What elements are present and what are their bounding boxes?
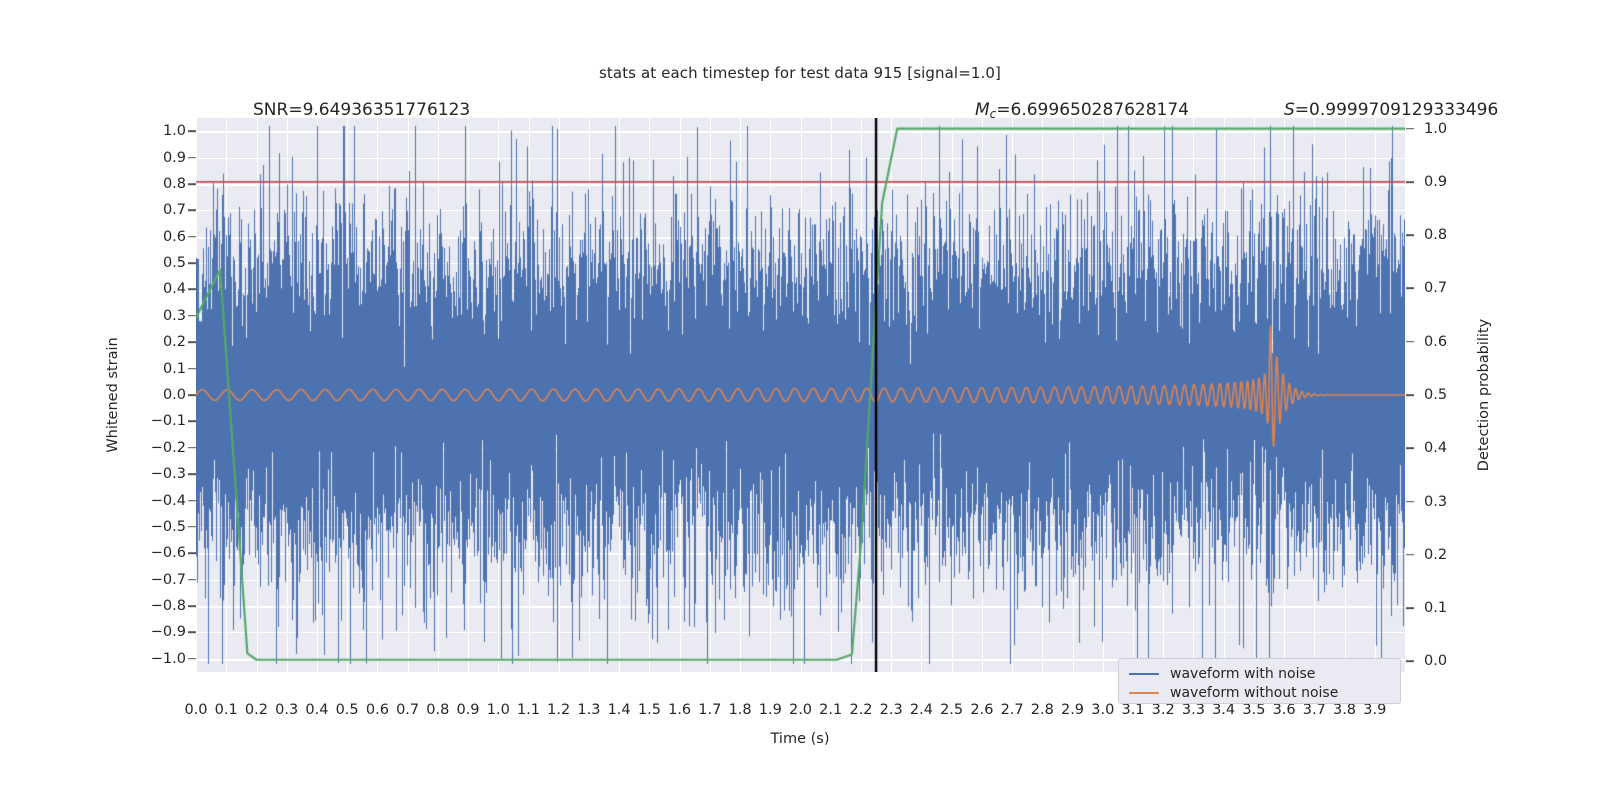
y-tick-mark-left [188, 368, 196, 370]
y-tick-label-right: 0.4 [1424, 440, 1447, 456]
y-tick-label-left: −0.9 [151, 624, 186, 640]
y-tick-mark-left [188, 658, 196, 660]
y-tick-label-left: −0.7 [151, 572, 186, 588]
y-tick-label-left: 0.0 [163, 387, 186, 403]
y-tick-mark-left [188, 157, 196, 159]
x-tick-label: 2.9 [1061, 702, 1084, 718]
x-tick-label: 2.8 [1031, 702, 1054, 718]
y-tick-mark-left [188, 605, 196, 607]
y-tick-label-right: 0.6 [1424, 334, 1447, 350]
y-tick-label-right: 0.0 [1424, 653, 1447, 669]
chirp-mass-annotation: Mc=6.699650287628174 [975, 100, 1189, 121]
y-tick-label-left: 0.3 [163, 308, 186, 324]
y-tick-mark-left [188, 236, 196, 238]
chart-title: stats at each timestep for test data 915… [0, 64, 1600, 82]
y-tick-label-left: −0.1 [151, 413, 186, 429]
x-tick-label: 1.8 [729, 702, 752, 718]
y-tick-mark-right [1406, 288, 1414, 290]
y-tick-mark-left [188, 394, 196, 396]
x-tick-label: 2.2 [849, 702, 872, 718]
chirp-mass-value: =6.699650287628174 [996, 100, 1189, 120]
x-tick-label: 3.8 [1333, 702, 1356, 718]
x-tick-label: 1.5 [638, 702, 661, 718]
y-tick-mark-left [188, 632, 196, 634]
legend-item: waveform with noise [1129, 665, 1390, 683]
x-tick-label: 0.2 [245, 702, 268, 718]
x-tick-label: 0.5 [336, 702, 359, 718]
y-tick-mark-left [188, 579, 196, 581]
x-tick-label: 3.0 [1091, 702, 1114, 718]
x-tick-label: 1.2 [547, 702, 570, 718]
y-tick-mark-right [1406, 607, 1414, 609]
x-tick-label: 2.1 [819, 702, 842, 718]
score-value: =0.9999709129333496 [1295, 100, 1499, 120]
y-tick-label-left: −1.0 [151, 651, 186, 667]
x-tick-label: 3.9 [1363, 702, 1386, 718]
chirp-mass-symbol: M [975, 100, 990, 120]
x-tick-label: 0.3 [275, 702, 298, 718]
legend-swatch-waveform-with-noise [1129, 673, 1159, 675]
x-tick-label: 1.1 [517, 702, 540, 718]
y-tick-mark-left [188, 289, 196, 291]
y-tick-mark-right [1406, 661, 1414, 663]
x-tick-label: 3.6 [1273, 702, 1296, 718]
x-tick-label: 3.5 [1242, 702, 1265, 718]
y-tick-label-left: 0.6 [163, 229, 186, 245]
x-tick-label: 0.0 [184, 702, 207, 718]
x-tick-label: 2.4 [910, 702, 933, 718]
x-tick-label: 1.4 [608, 702, 631, 718]
y-tick-label-left: −0.5 [151, 519, 186, 535]
x-tick-label: 1.6 [668, 702, 691, 718]
y-tick-mark-left [188, 262, 196, 264]
y-tick-mark-left [188, 341, 196, 343]
x-tick-label: 1.9 [759, 702, 782, 718]
y-tick-label-right: 0.2 [1424, 547, 1447, 563]
y-tick-label-right: 0.7 [1424, 280, 1447, 296]
x-tick-label: 3.2 [1152, 702, 1175, 718]
x-tick-label: 2.0 [789, 702, 812, 718]
y-tick-label-left: 0.2 [163, 334, 186, 350]
y-tick-label-left: 0.1 [163, 361, 186, 377]
waveform-canvas [196, 118, 1405, 672]
y-tick-mark-left [188, 183, 196, 185]
y-tick-mark-left [188, 473, 196, 475]
score-symbol: S [1284, 100, 1295, 120]
y-tick-label-right: 0.5 [1424, 387, 1447, 403]
y-tick-label-left: 0.5 [163, 255, 186, 271]
legend: waveform with noise waveform without noi… [1118, 658, 1401, 704]
y-tick-label-left: −0.6 [151, 545, 186, 561]
y-tick-label-left: −0.4 [151, 493, 186, 509]
x-tick-label: 2.7 [1001, 702, 1024, 718]
y-tick-mark-left [188, 552, 196, 554]
y-tick-mark-left [188, 130, 196, 132]
y-tick-mark-right [1406, 447, 1414, 449]
x-tick-label: 0.6 [366, 702, 389, 718]
x-tick-label: 0.1 [215, 702, 238, 718]
x-tick-label: 1.7 [698, 702, 721, 718]
y-axis-label-left: Whitened strain [105, 337, 121, 452]
y-tick-label-left: 0.8 [163, 176, 186, 192]
y-tick-mark-right [1406, 501, 1414, 503]
score-annotation: S=0.9999709129333496 [1284, 100, 1498, 120]
y-tick-mark-left [188, 526, 196, 528]
y-tick-mark-right [1406, 341, 1414, 343]
plot-canvas-wrap [196, 118, 1405, 672]
y-axis-label-right: Detection probability [1476, 319, 1492, 471]
chart-root: stats at each timestep for test data 915… [0, 0, 1600, 800]
x-tick-label: 2.5 [940, 702, 963, 718]
x-tick-label: 0.9 [456, 702, 479, 718]
x-tick-label: 3.3 [1182, 702, 1205, 718]
y-tick-label-left: 0.9 [163, 150, 186, 166]
x-tick-label: 1.0 [487, 702, 510, 718]
x-tick-label: 0.4 [305, 702, 328, 718]
y-tick-mark-left [188, 500, 196, 502]
y-tick-mark-right [1406, 554, 1414, 556]
x-tick-label: 3.1 [1121, 702, 1144, 718]
y-tick-mark-left [188, 421, 196, 423]
y-tick-label-left: 1.0 [163, 123, 186, 139]
plot-area [196, 118, 1405, 672]
snr-annotation: SNR=9.64936351776123 [253, 100, 470, 120]
y-tick-label-left: −0.2 [151, 440, 186, 456]
x-tick-label: 3.4 [1212, 702, 1235, 718]
y-tick-label-left: −0.8 [151, 598, 186, 614]
y-tick-label-right: 1.0 [1424, 121, 1447, 137]
y-tick-mark-right [1406, 181, 1414, 183]
x-tick-label: 3.7 [1303, 702, 1326, 718]
legend-label: waveform without noise [1170, 685, 1338, 701]
y-tick-label-left: 0.7 [163, 202, 186, 218]
x-tick-label: 0.8 [426, 702, 449, 718]
y-tick-label-left: 0.4 [163, 281, 186, 297]
y-tick-mark-right [1406, 128, 1414, 130]
y-tick-mark-left [188, 210, 196, 212]
y-tick-label-right: 0.3 [1424, 494, 1447, 510]
y-tick-mark-left [188, 447, 196, 449]
y-tick-label-right: 0.8 [1424, 227, 1447, 243]
x-tick-label: 2.3 [880, 702, 903, 718]
x-axis-label: Time (s) [771, 731, 830, 747]
y-tick-label-left: −0.3 [151, 466, 186, 482]
y-tick-mark-right [1406, 234, 1414, 236]
y-tick-label-right: 0.1 [1424, 600, 1447, 616]
legend-label: waveform with noise [1170, 666, 1315, 682]
y-tick-mark-left [188, 315, 196, 317]
x-tick-label: 1.3 [577, 702, 600, 718]
legend-swatch-waveform-without-noise [1129, 692, 1159, 694]
x-tick-label: 2.6 [970, 702, 993, 718]
x-tick-label: 0.7 [396, 702, 419, 718]
y-tick-label-right: 0.9 [1424, 174, 1447, 190]
y-tick-mark-right [1406, 394, 1414, 396]
legend-item: waveform without noise [1129, 684, 1390, 702]
